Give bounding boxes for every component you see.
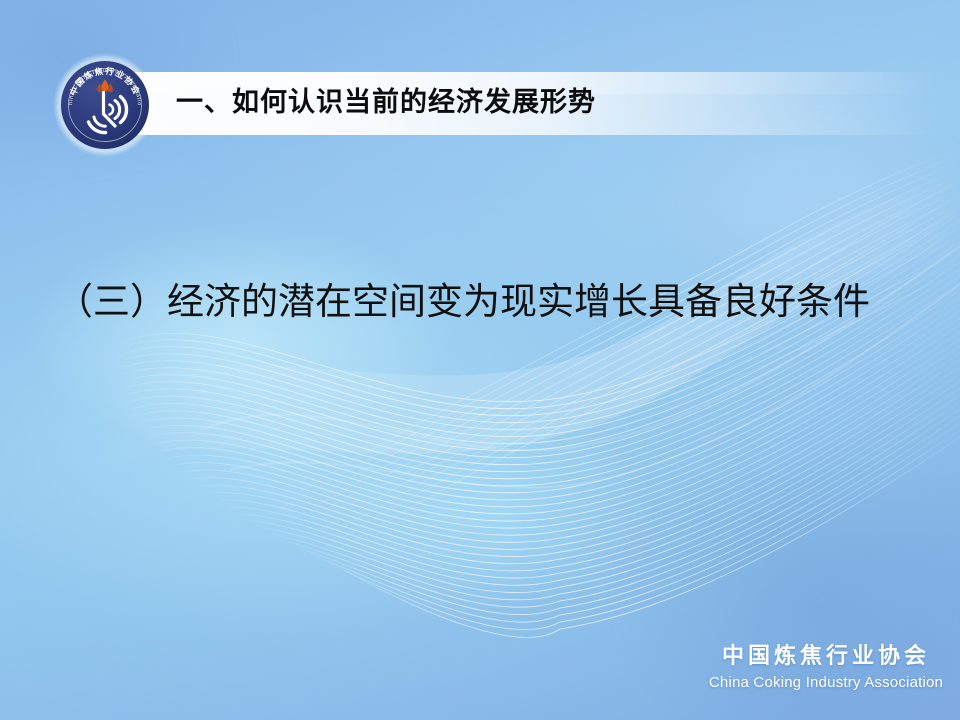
footer-org-name-cn: 中国炼焦行业协会 — [706, 642, 946, 672]
footer-branding: 中国炼焦行业协会 China Coking Industry Associati… — [706, 642, 946, 694]
page-title: 一、如何认识当前的经济发展形势 — [176, 79, 876, 127]
slide-heading: （三）经济的潜在空间变为现实增长具备良好条件 — [56, 274, 906, 330]
association-logo: 中国炼焦行业协会 China Coking Industry · Associa… — [52, 52, 158, 158]
footer-org-name-en: China Coking Industry Association — [706, 672, 946, 694]
presentation-slide: 一、如何认识当前的经济发展形势 — [0, 0, 960, 720]
